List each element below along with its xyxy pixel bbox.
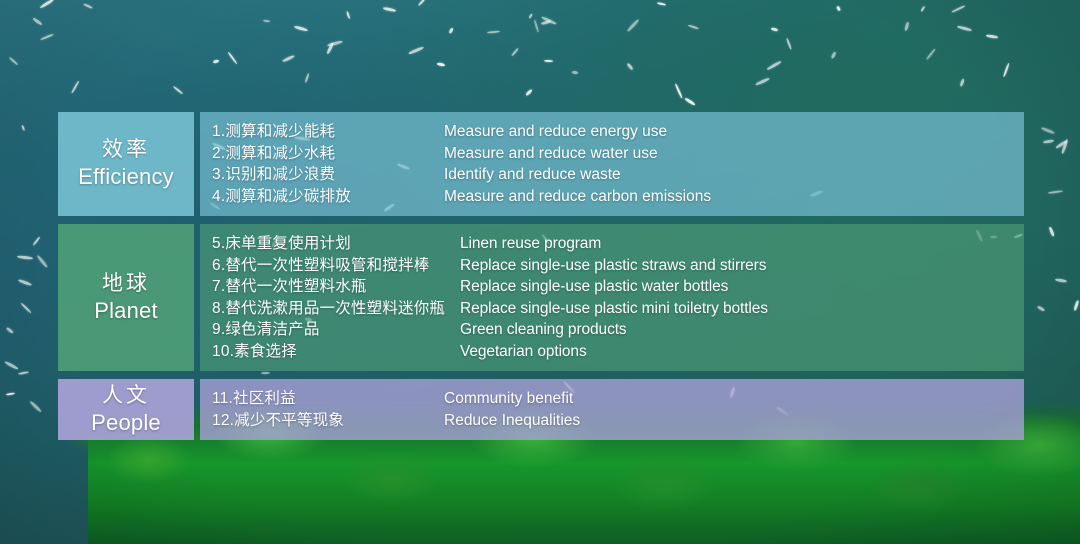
table-row-efficiency: 效率 Efficiency 1.测算和减少能耗 2.测算和减少水耗 3.识别和减… [58,112,1024,216]
items-column-en: Measure and reduce energy use Measure an… [444,121,1024,207]
list-item: 2.测算和减少水耗 [212,143,444,165]
list-item: Measure and reduce water use [444,143,1024,165]
list-item: 12.减少不平等现象 [212,410,444,432]
list-item: 6.替代一次性塑料吸管和搅拌棒 [212,255,460,277]
list-item: 4.测算和减少碳排放 [212,186,444,208]
list-item: Measure and reduce energy use [444,121,1024,143]
items-column-zh: 11.社区利益 12.减少不平等现象 [212,388,444,431]
list-item: Reduce Inequalities [444,410,1024,432]
items-column-en: Linen reuse program Replace single-use p… [460,233,1024,362]
list-item: Replace single-use plastic mini toiletry… [460,298,1024,320]
category-label-en: Efficiency [78,163,174,191]
category-label-zh: 效率 [102,137,150,163]
list-item: 11.社区利益 [212,388,444,410]
items-cell-planet: 5.床单重复使用计划 6.替代一次性塑料吸管和搅拌棒 7.替代一次性塑料水瓶 8… [200,224,1024,371]
sustainability-table: 效率 Efficiency 1.测算和减少能耗 2.测算和减少水耗 3.识别和减… [58,112,1024,440]
list-item: Replace single-use plastic straws and st… [460,255,1024,277]
category-label-zh: 人文 [102,383,150,409]
list-item: Green cleaning products [460,319,1024,341]
list-item: Replace single-use plastic water bottles [460,276,1024,298]
items-column-zh: 5.床单重复使用计划 6.替代一次性塑料吸管和搅拌棒 7.替代一次性塑料水瓶 8… [212,233,460,362]
list-item: 5.床单重复使用计划 [212,233,460,255]
items-cell-people: 11.社区利益 12.减少不平等现象 Community benefit Red… [200,379,1024,440]
list-item: 10.素食选择 [212,341,460,363]
items-column-zh: 1.测算和减少能耗 2.测算和减少水耗 3.识别和减少浪费 4.测算和减少碳排放 [212,121,444,207]
list-item: 1.测算和减少能耗 [212,121,444,143]
category-label-zh: 地球 [102,271,150,297]
list-item: 3.识别和减少浪费 [212,164,444,186]
list-item: Community benefit [444,388,1024,410]
list-item: Measure and reduce carbon emissions [444,186,1024,208]
table-row-people: 人文 People 11.社区利益 12.减少不平等现象 Community b… [58,379,1024,440]
table-row-planet: 地球 Planet 5.床单重复使用计划 6.替代一次性塑料吸管和搅拌棒 7.替… [58,224,1024,371]
list-item: 9.绿色清洁产品 [212,319,460,341]
list-item: Identify and reduce waste [444,164,1024,186]
category-cell-people: 人文 People [58,379,194,440]
slide-canvas: 效率 Efficiency 1.测算和减少能耗 2.测算和减少水耗 3.识别和减… [0,0,1080,544]
items-cell-efficiency: 1.测算和减少能耗 2.测算和减少水耗 3.识别和减少浪费 4.测算和减少碳排放… [200,112,1024,216]
items-column-en: Community benefit Reduce Inequalities [444,388,1024,431]
list-item: Vegetarian options [460,341,1024,363]
list-item: 8.替代洗漱用品一次性塑料迷你瓶 [212,298,460,320]
category-label-en: People [91,409,161,437]
category-cell-efficiency: 效率 Efficiency [58,112,194,216]
list-item: Linen reuse program [460,233,1024,255]
list-item: 7.替代一次性塑料水瓶 [212,276,460,298]
category-label-en: Planet [94,297,158,325]
category-cell-planet: 地球 Planet [58,224,194,371]
